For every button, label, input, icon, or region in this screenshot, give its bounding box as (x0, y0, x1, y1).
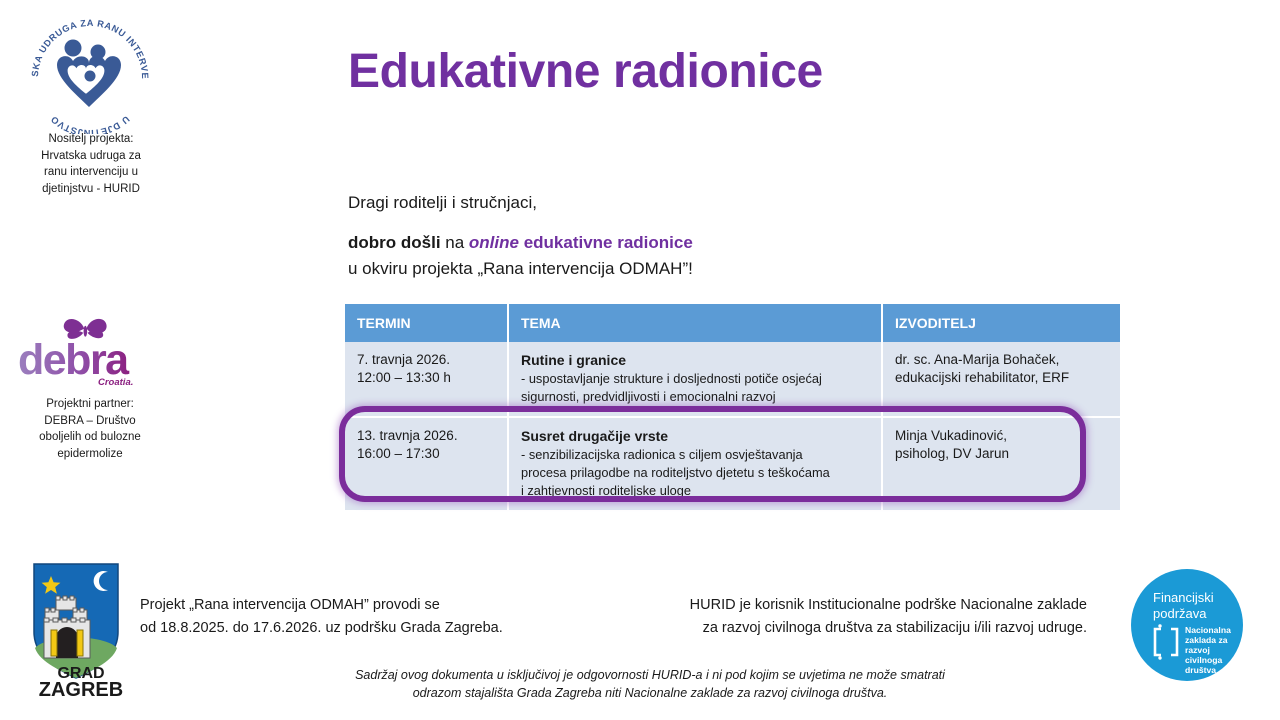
debra-caption-line-3: oboljelih od bulozne (2, 429, 178, 446)
nacionalna-zaklada-badge: Financijski podržava Nacionalna zaklada … (1131, 569, 1243, 681)
izvoditelj-name: Minja Vukadinović, (895, 427, 1110, 445)
zagreb-label-line-2: ZAGREB (39, 679, 123, 700)
debra-logo: debra Croatia. (16, 312, 142, 390)
intro-greeting: Dragi roditelji i stručnjaci, (348, 190, 968, 216)
debra-caption-line-2: DEBRA – Društvo (2, 413, 178, 430)
intro-welcome-mid: na (441, 233, 469, 252)
badge-org-line-4: civilnoga (1185, 655, 1222, 665)
footer-left-line-2: od 18.8.2025. do 17.6.2026. uz podršku G… (140, 617, 503, 640)
footer-disclaimer: Sadržaj ovog dokumenta u isključivoj je … (240, 666, 1060, 702)
table-header-row: TERMIN TEMA IZVODITELJ (345, 304, 1120, 342)
column-header-izvoditelj: IZVODITELJ (882, 304, 1120, 342)
debra-caption-line-1: Projektni partner: (2, 396, 178, 413)
tema-title: Rutine i granice (521, 351, 871, 369)
footer-left-text: Projekt „Rana intervencija ODMAH” provod… (140, 594, 503, 640)
cell-izvoditelj: dr. sc. Ana-Marija Bohaček, edukacijski … (882, 342, 1120, 417)
footer-right-line-2: za razvoj civilnoga društva za stabiliza… (672, 617, 1087, 640)
badge-org-line-2: zaklada za (1185, 635, 1228, 645)
hurid-logo: HRVATSKA UDRUGA ZA RANU INTERVENCIJU U D… (18, 14, 163, 134)
grad-zagreb-logo: GRAD ZAGREB (26, 560, 136, 700)
tema-desc-line-2: sigurnosti, predvidljivosti i emocionaln… (521, 388, 871, 406)
intro-welcome-bold: dobro došli (348, 233, 441, 252)
badge-line-1: Financijski (1153, 590, 1214, 605)
tema-desc-line-2: procesa prilagodbe na roditeljstvo djete… (521, 464, 871, 482)
hurid-caption-line-1: Nositelj projekta: (6, 131, 176, 148)
tema-desc-line-1: - uspostavljanje strukture i dosljednost… (521, 370, 871, 388)
termin-date: 7. travnja 2026. (357, 351, 497, 369)
termin-date: 13. travnja 2026. (357, 427, 497, 445)
tema-desc-line-1: - senzibilizacijska radionica s ciljem o… (521, 446, 871, 464)
disclaimer-line-2: odrazom stajališta Grada Zagreba niti Na… (240, 684, 1060, 702)
hurid-caption-line-4: djetinjstvu - HURID (6, 181, 176, 198)
slide-canvas: HRVATSKA UDRUGA ZA RANU INTERVENCIJU U D… (0, 0, 1280, 720)
page-title: Edukativne radionice (348, 44, 823, 99)
badge-line-2: podržava (1153, 606, 1207, 621)
footer-right-line-1: HURID je korisnik Institucionalne podršk… (672, 594, 1087, 617)
hurid-caption: Nositelj projekta: Hrvatska udruga za ra… (6, 131, 176, 197)
intro-welcome-rest: edukativne radionice (519, 233, 693, 252)
footer-left-line-1: Projekt „Rana intervencija ODMAH” provod… (140, 594, 503, 617)
termin-time: 16:00 – 17:30 (357, 445, 497, 463)
cell-tema: Susret drugačije vrste - senzibilizacijs… (508, 417, 882, 510)
cell-termin: 13. travnja 2026. 16:00 – 17:30 (345, 417, 508, 510)
tema-title: Susret drugačije vrste (521, 427, 871, 445)
termin-time: 12:00 – 13:30 h (357, 369, 497, 387)
intro-welcome-line: dobro došli na online edukativne radioni… (348, 230, 968, 256)
intro-project-line: u okviru projekta „Rana intervencija ODM… (348, 256, 968, 282)
izvoditelj-role: edukacijski rehabilitator, ERF (895, 369, 1110, 387)
intro-online-emphasis: online (469, 233, 519, 252)
column-header-tema: TEMA (508, 304, 882, 342)
cell-izvoditelj: Minja Vukadinović, psiholog, DV Jarun (882, 417, 1120, 510)
izvoditelj-name: dr. sc. Ana-Marija Bohaček, (895, 351, 1110, 369)
intro-paragraph: Dragi roditelji i stručnjaci, dobro došl… (348, 190, 968, 282)
cell-tema: Rutine i granice - uspostavljanje strukt… (508, 342, 882, 417)
tema-desc-line-3: i zahtjevnosti roditeljske uloge (521, 482, 871, 500)
izvoditelj-role: psiholog, DV Jarun (895, 445, 1110, 463)
disclaimer-line-1: Sadržaj ovog dokumenta u isključivoj je … (240, 666, 1060, 684)
column-header-termin: TERMIN (345, 304, 508, 342)
cell-termin: 7. travnja 2026. 12:00 – 13:30 h (345, 342, 508, 417)
badge-org-line-1: Nacionalna (1185, 625, 1231, 635)
table-row: 7. travnja 2026. 12:00 – 13:30 h Rutine … (345, 342, 1120, 417)
hurid-caption-line-2: Hrvatska udruga za (6, 148, 176, 165)
workshop-schedule-table: TERMIN TEMA IZVODITELJ 7. travnja 2026. … (345, 304, 1120, 510)
badge-org-line-3: razvoj (1185, 645, 1210, 655)
debra-caption: Projektni partner: DEBRA – Društvo obolj… (2, 396, 178, 462)
footer-right-text: HURID je korisnik Institucionalne podršk… (672, 594, 1087, 640)
debra-croatia-text: Croatia. (98, 377, 133, 388)
table-row: 13. travnja 2026. 16:00 – 17:30 Susret d… (345, 417, 1120, 510)
hurid-caption-line-3: ranu intervenciju u (6, 164, 176, 181)
badge-org-line-5: društva (1185, 665, 1216, 675)
table-body: 7. travnja 2026. 12:00 – 13:30 h Rutine … (345, 342, 1120, 510)
debra-caption-line-4: epidermolize (2, 446, 178, 463)
table-head: TERMIN TEMA IZVODITELJ (345, 304, 1120, 342)
